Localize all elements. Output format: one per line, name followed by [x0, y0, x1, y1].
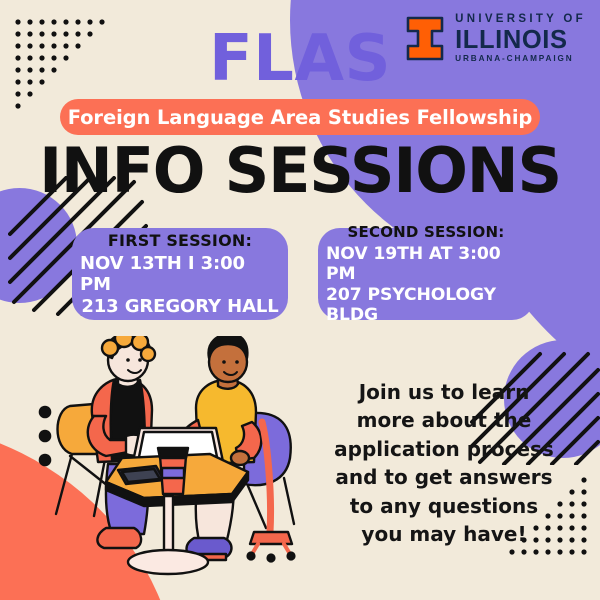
illinois-block-i-icon [405, 15, 445, 62]
session-heading: SECOND SESSION: [348, 223, 505, 241]
logo-line-urbana: URBANA-CHAMPAIGN [455, 55, 573, 63]
page-title-info-sessions: INFO SESSIONS [0, 134, 600, 207]
subtitle-banner: Foreign Language Area Studies Fellowship [60, 99, 540, 135]
university-logo: UNIVERSITY OF ILLINOIS URBANA-CHAMPAIGN [405, 14, 586, 63]
logo-line-university: UNIVERSITY OF [455, 14, 586, 26]
logo-line-illinois: ILLINOIS [455, 28, 567, 54]
session-card-first: FIRST SESSION: NOV 13TH I 3:00 PM 213 GR… [72, 228, 288, 320]
session-card-second: SECOND SESSION: NOV 19TH AT 3:00 PM 207 … [318, 228, 534, 320]
session-datetime: NOV 19TH AT 3:00 PM [326, 244, 526, 285]
coffee-cup [158, 448, 188, 494]
session-location: 207 PSYCHOLOGY BLDG [326, 285, 526, 326]
subtitle-text: Foreign Language Area Studies Fellowship [68, 106, 533, 129]
session-heading: FIRST SESSION: [108, 231, 252, 250]
session-location: 213 GREGORY HALL [81, 296, 278, 317]
tablet [118, 466, 164, 484]
poster-canvas: UNIVERSITY OF ILLINOIS URBANA-CHAMPAIGN … [0, 0, 600, 600]
two-people-at-table-illustration [48, 336, 318, 576]
body-copy-text: Join us to learn more about the applicat… [330, 378, 558, 548]
session-datetime: NOV 13TH I 3:00 PM [80, 253, 280, 295]
logo-wordmark: UNIVERSITY OF ILLINOIS URBANA-CHAMPAIGN [455, 14, 586, 63]
